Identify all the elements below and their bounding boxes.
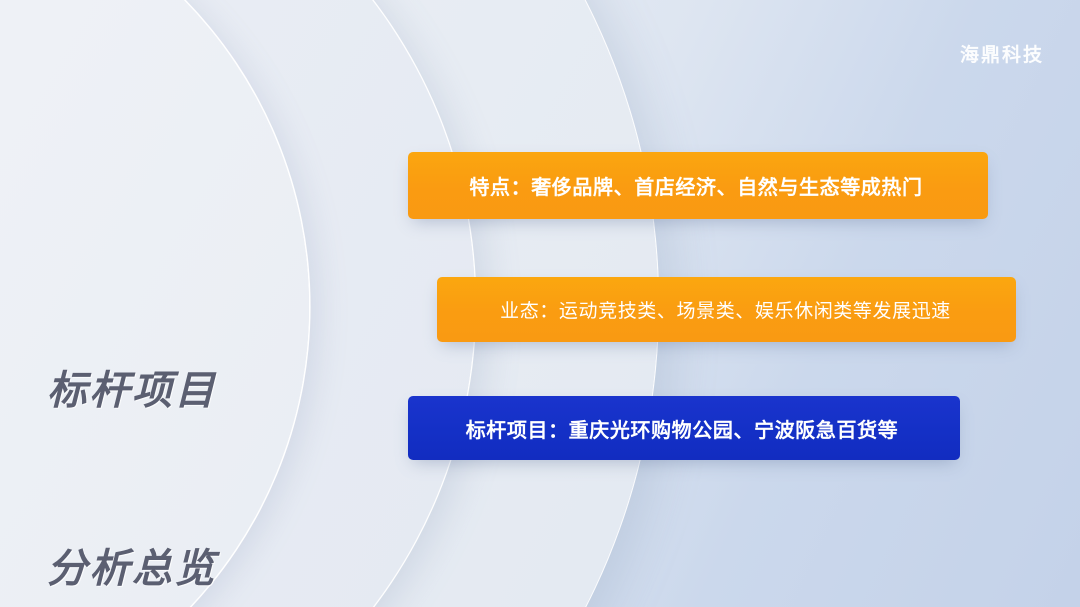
feature-bar[interactable]: 特点：奢侈品牌、首店经济、自然与生态等成热门	[408, 152, 988, 219]
feature-bar-label: 特点：奢侈品牌、首店经济、自然与生态等成热门	[408, 171, 988, 200]
format-bar[interactable]: 业态：运动竞技类、场景类、娱乐休闲类等发展迅速	[437, 277, 1016, 342]
benchmark-bar-label: 标杆项目：重庆光环购物公园、宁波阪急百货等	[408, 414, 960, 443]
page-title-line-2: 分析总览	[47, 540, 377, 599]
slide-canvas: 海鼎科技 标杆项目 分析总览 特点：奢侈品牌、首店经济、自然与生态等成热门 业态…	[0, 0, 1080, 607]
benchmark-bar[interactable]: 标杆项目：重庆光环购物公园、宁波阪急百货等	[408, 396, 960, 460]
brand-wordmark: 海鼎科技	[960, 40, 1044, 67]
page-title: 标杆项目 分析总览	[47, 244, 377, 607]
page-title-line-1: 标杆项目	[47, 362, 377, 421]
format-bar-label: 业态：运动竞技类、场景类、娱乐休闲类等发展迅速	[437, 296, 1016, 323]
